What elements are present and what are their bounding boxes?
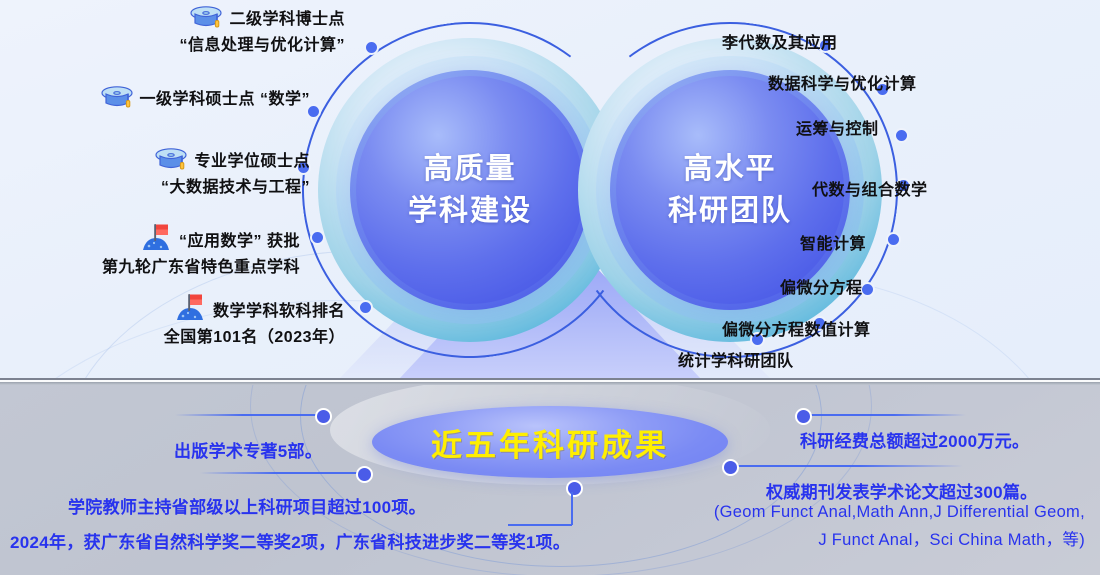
left-item-3-line1: 第九轮广东省特色重点学科 (0, 258, 300, 278)
connector-node-left-0 (315, 408, 332, 425)
left-item-4-line1: 全国第101名（2023年） (0, 328, 345, 348)
orbit-node (310, 230, 325, 245)
left-item-4-text0: 数学学科软科排名 (213, 303, 345, 320)
right-item-0[interactable]: 李代数及其应用 (722, 29, 838, 53)
left-item-3-text0: “应用数学” 获批 (179, 233, 300, 250)
left-item-2-line0: 专业学位硕士点 (0, 148, 310, 178)
left-item-2[interactable]: 专业学位硕士点 “大数据技术与工程” (0, 148, 310, 199)
left-item-3[interactable]: “应用数学” 获批 第九轮广东省特色重点学科 (0, 222, 300, 279)
right-core-circle[interactable]: 高水平 科研团队 (616, 76, 844, 304)
left-item-0-line1: “信息处理与优化计算” (0, 36, 345, 56)
orbit-node (886, 232, 901, 247)
connector-node-left-1 (356, 466, 373, 483)
orbit-node (364, 40, 379, 55)
connector-node-left-2 (566, 480, 583, 497)
panel-divider (0, 378, 1100, 385)
right-item-6[interactable]: 偏微分方程数值计算 (722, 316, 871, 340)
graduation-cap-icon (190, 6, 224, 36)
right-item-1[interactable]: 数据科学与优化计算 (768, 70, 917, 94)
banner-title: 近五年科研成果 (431, 420, 669, 465)
graduation-cap-icon (101, 86, 135, 116)
infographic-root: 高质量 学科建设 高水平 科研团队 (0, 0, 1100, 575)
right-core-title-line2: 科研团队 (668, 190, 792, 232)
right-core-title-line1: 高水平 (683, 148, 776, 190)
bottom-left-text-0[interactable]: 出版学术专著5部。 (174, 437, 322, 462)
left-item-1-line0: 一级学科硕士点 “数学” (0, 86, 310, 116)
left-item-4-line0: 数学学科软科排名 (0, 292, 345, 328)
left-item-1[interactable]: 一级学科硕士点 “数学” (0, 86, 310, 116)
right-item-2[interactable]: 运筹与控制 (796, 115, 879, 139)
flag-hill-icon (140, 222, 174, 258)
left-item-0-line0: 二级学科博士点 (0, 6, 345, 36)
left-core-title-line1: 高质量 (423, 148, 516, 190)
left-item-2-text0: 专业学位硕士点 (194, 153, 310, 170)
left-core-circle[interactable]: 高质量 学科建设 (356, 76, 584, 304)
orbit-node (358, 300, 373, 315)
right-item-7[interactable]: 统计学科研团队 (678, 347, 794, 371)
left-item-4[interactable]: 数学学科软科排名 全国第101名（2023年） (0, 292, 345, 349)
flag-hill-icon (174, 292, 208, 328)
right-item-4[interactable]: 智能计算 (800, 230, 866, 254)
connector-node-right-0 (795, 408, 812, 425)
connector-line-left-0 (175, 414, 325, 416)
left-item-0[interactable]: 二级学科博士点 “信息处理与优化计算” (0, 6, 345, 57)
left-core-title-line2: 学科建设 (408, 190, 532, 232)
graduation-cap-icon (155, 148, 189, 178)
bottom-right-text-0[interactable]: 科研经费总额超过2000万元。 (800, 427, 1029, 452)
left-item-1-text0: 一级学科硕士点 “数学” (140, 91, 310, 108)
connector-line-right-1 (733, 465, 963, 467)
left-item-3-line0: “应用数学” 获批 (0, 222, 300, 258)
bottom-right-text-1[interactable]: 权威期刊发表学术论文超过300篇。 (766, 478, 1037, 503)
journal-list-line-2: J Funct Anal，Sci China Math，等) (0, 526, 1085, 550)
left-item-2-line1: “大数据技术与工程” (0, 178, 310, 198)
journal-list-line-1: (Geom Funct Anal,Math Ann,J Differential… (0, 503, 1085, 522)
right-item-3[interactable]: 代数与组合数学 (812, 176, 928, 200)
connector-node-right-1 (722, 459, 739, 476)
right-item-5[interactable]: 偏微分方程 (780, 274, 863, 298)
left-item-0-text0: 二级学科博士点 (229, 11, 345, 28)
orbit-node (894, 128, 909, 143)
results-banner[interactable]: 近五年科研成果 (372, 406, 728, 478)
top-panel: 高质量 学科建设 高水平 科研团队 (0, 0, 1100, 378)
connector-line-left-1 (200, 472, 365, 474)
connector-line-right-0 (806, 414, 966, 416)
